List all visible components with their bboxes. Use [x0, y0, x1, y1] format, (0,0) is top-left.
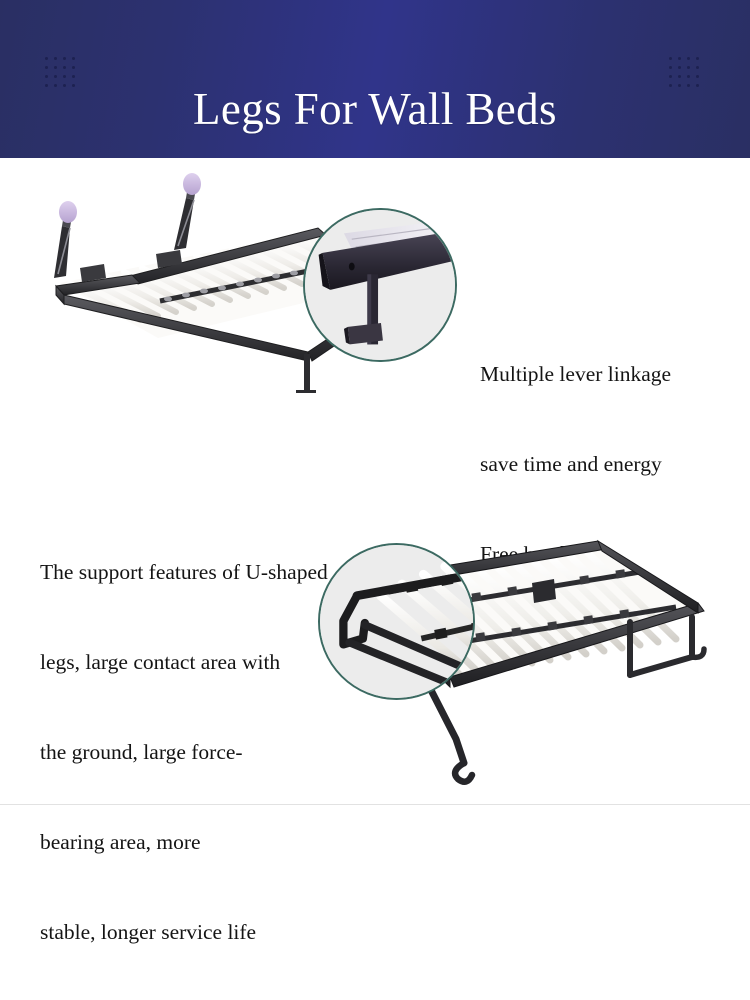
- dot: [669, 84, 672, 87]
- page-header-banner: Legs For Wall Beds: [0, 0, 750, 158]
- dot: [687, 66, 690, 69]
- dot: [687, 75, 690, 78]
- dot: [669, 75, 672, 78]
- callout-leg-mount-detail: [303, 208, 457, 362]
- product-feature-page: Legs For Wall Beds: [0, 0, 750, 805]
- feature-line: stable, longer service life: [40, 910, 390, 955]
- dot: [687, 84, 690, 87]
- dot: [678, 66, 681, 69]
- dot: [669, 66, 672, 69]
- dot: [696, 66, 699, 69]
- feature-line: save time and energy: [480, 442, 740, 487]
- dot: [696, 57, 699, 60]
- dot: [696, 84, 699, 87]
- feature-line: bearing area, more: [40, 820, 390, 865]
- dot: [696, 75, 699, 78]
- dot: [678, 75, 681, 78]
- dot: [687, 57, 690, 60]
- dot: [678, 57, 681, 60]
- callout-u-shaped-leg-detail: [318, 543, 475, 700]
- feature-line: Multiple lever linkage: [480, 352, 740, 397]
- dot-grid-decoration-right: [669, 57, 705, 93]
- page-title: Legs For Wall Beds: [0, 30, 750, 158]
- dot: [678, 84, 681, 87]
- dot: [669, 57, 672, 60]
